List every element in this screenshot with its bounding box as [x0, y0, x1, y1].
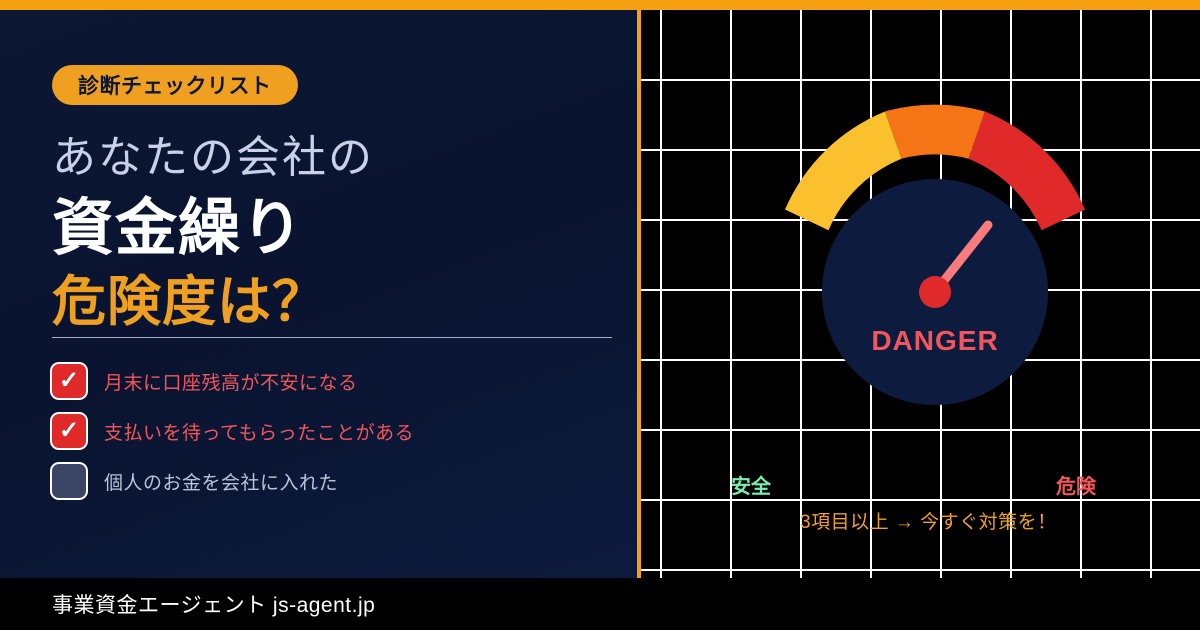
- checklist-badge-label: 診断チェックリスト: [78, 70, 272, 100]
- checkbox-unchecked-icon[interactable]: [52, 464, 86, 498]
- checklist: ✓ 月末に口座残高が不安になる ✓ 支払いを待ってもらったことがある 個人のお金…: [52, 356, 612, 506]
- gauge-panel: DANGER 安全 危険 3項目以上 → 今すぐ対策を！: [641, 10, 1200, 578]
- headline-line-3: 危険度は？: [52, 275, 327, 329]
- gauge-axis-label-danger: 危険: [1056, 470, 1096, 499]
- check-mark-icon: ✓: [59, 419, 79, 443]
- gauge-band-caution: [885, 105, 985, 159]
- checkbox-checked-icon[interactable]: ✓: [52, 414, 86, 448]
- checklist-item-1-label: 月末に口座残高が不安になる: [104, 368, 358, 395]
- headline-line-2: 資金繰り: [52, 198, 304, 260]
- gauge-status-text: DANGER: [871, 325, 998, 356]
- gauge-axis-label-safe: 安全: [731, 470, 771, 499]
- checklist-badge: 診断チェックリスト: [52, 65, 298, 105]
- checklist-item-3-label: 個人のお金を会社に入れた: [104, 468, 338, 495]
- gauge-note: 3項目以上 → 今すぐ対策を！: [800, 507, 1057, 534]
- checklist-item-2[interactable]: ✓ 支払いを待ってもらったことがある: [52, 406, 612, 456]
- risk-gauge: DANGER: [641, 10, 1200, 578]
- checklist-item-2-label: 支払いを待ってもらったことがある: [104, 418, 414, 445]
- top-accent-bar: [0, 0, 1200, 10]
- headline-line-1: あなたの会社の: [52, 136, 374, 180]
- gauge-needle-hub: [919, 276, 951, 308]
- check-mark-icon: ✓: [59, 369, 79, 393]
- footer: 事業資金エージェント js-agent.jp: [0, 578, 1200, 630]
- infographic-card: 診断チェックリスト あなたの会社の 資金繰り 危険度は？ ✓ 月末に口座残高が不…: [0, 0, 1200, 630]
- headline-divider: [52, 337, 612, 338]
- checklist-item-3[interactable]: 個人のお金を会社に入れた: [52, 456, 612, 506]
- left-content-panel: 診断チェックリスト あなたの会社の 資金繰り 危険度は？ ✓ 月末に口座残高が不…: [0, 10, 637, 578]
- footer-brand-text: 事業資金エージェント js-agent.jp: [52, 589, 375, 619]
- checklist-item-1[interactable]: ✓ 月末に口座残高が不安になる: [52, 356, 612, 406]
- checkbox-checked-icon[interactable]: ✓: [52, 364, 86, 398]
